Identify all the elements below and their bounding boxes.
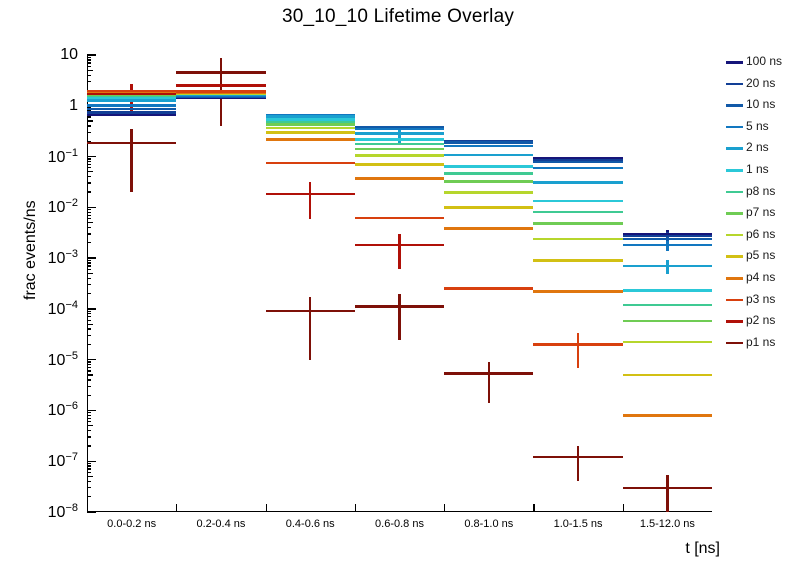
x-bin-divider bbox=[355, 504, 356, 512]
y-tick-minor bbox=[87, 191, 91, 192]
y-tick-minor bbox=[87, 218, 91, 219]
error-bar bbox=[309, 297, 311, 359]
x-tick-label: 1.0-1.5 ns bbox=[554, 518, 603, 530]
series-bar bbox=[266, 123, 355, 125]
series-bar bbox=[355, 128, 444, 130]
legend-color-swatch bbox=[726, 83, 743, 86]
y-tick-minor bbox=[87, 465, 91, 466]
y-tick-minor bbox=[87, 227, 91, 228]
legend-item[interactable]: p7 ns bbox=[724, 203, 796, 224]
y-tick-minor bbox=[87, 120, 93, 121]
series-bar bbox=[623, 244, 712, 246]
y-tick-minor bbox=[87, 209, 91, 210]
y-tick-minor bbox=[87, 70, 93, 71]
y-tick-minor bbox=[87, 116, 91, 117]
legend-label: p5 ns bbox=[746, 248, 775, 262]
legend-color-swatch bbox=[726, 277, 743, 280]
legend-label: p7 ns bbox=[746, 205, 775, 219]
series-bar bbox=[87, 104, 176, 106]
y-axis-title: frac events/ns bbox=[22, 200, 40, 300]
y-tick-label: 10−7 bbox=[48, 451, 78, 471]
error-bar bbox=[309, 182, 311, 218]
y-tick-minor bbox=[87, 320, 91, 321]
series-bar bbox=[623, 304, 712, 306]
y-tick-minor bbox=[87, 215, 91, 216]
y-tick-minor bbox=[87, 176, 91, 177]
legend-color-swatch bbox=[726, 342, 743, 345]
legend-color-swatch bbox=[726, 234, 743, 237]
series-bar bbox=[355, 132, 444, 134]
series-bar bbox=[87, 111, 176, 113]
y-tick-label: 10 bbox=[60, 46, 78, 64]
legend-label: p2 ns bbox=[746, 313, 775, 327]
y-tick-minor bbox=[87, 262, 91, 263]
series-bar bbox=[355, 143, 444, 145]
legend-item[interactable]: p4 ns bbox=[724, 268, 796, 289]
error-bar bbox=[577, 333, 579, 367]
series-bar bbox=[266, 131, 355, 133]
y-tick-minor bbox=[87, 367, 91, 368]
y-tick-major bbox=[87, 359, 96, 360]
y-tick-minor bbox=[87, 425, 93, 426]
series-bar bbox=[623, 341, 712, 343]
series-bar bbox=[87, 108, 176, 110]
x-tick-label: 0.6-0.8 ns bbox=[375, 518, 424, 530]
x-axis-title: t [ns] bbox=[0, 540, 720, 558]
y-tick-label: 10−5 bbox=[48, 349, 78, 369]
y-tick-minor bbox=[87, 278, 91, 279]
legend-item[interactable]: 10 ns bbox=[724, 95, 796, 116]
legend-label: p1 ns bbox=[746, 335, 775, 349]
y-tick-minor bbox=[87, 481, 91, 482]
y-tick-label: 10−6 bbox=[48, 400, 78, 420]
series-bar bbox=[623, 289, 712, 291]
y-tick-minor bbox=[87, 125, 91, 126]
legend-item[interactable]: 2 ns bbox=[724, 138, 796, 159]
y-tick-major bbox=[87, 156, 96, 157]
y-tick-minor bbox=[87, 132, 91, 133]
legend-color-swatch bbox=[726, 299, 743, 302]
x-tick-label: 0.2-0.4 ns bbox=[196, 518, 245, 530]
series-bar bbox=[176, 84, 265, 86]
legend-color-swatch bbox=[726, 191, 743, 194]
y-tick-label: 10−1 bbox=[48, 146, 78, 166]
legend-item[interactable]: 20 ns bbox=[724, 74, 796, 95]
series-bar bbox=[623, 238, 712, 240]
y-tick-minor bbox=[87, 379, 91, 380]
series-bar bbox=[533, 238, 622, 240]
y-tick-minor bbox=[87, 164, 91, 165]
plot-area bbox=[87, 55, 712, 512]
legend: 100 ns20 ns10 ns5 ns2 ns1 nsp8 nsp7 nsp6… bbox=[724, 52, 796, 358]
series-bar bbox=[355, 244, 444, 246]
series-bar bbox=[533, 211, 622, 213]
y-tick-minor bbox=[87, 233, 91, 234]
y-tick-major bbox=[87, 207, 96, 208]
series-bar bbox=[533, 259, 622, 261]
legend-item[interactable]: p1 ns bbox=[724, 333, 796, 354]
legend-color-swatch bbox=[726, 147, 743, 150]
y-tick-minor bbox=[87, 415, 91, 416]
series-bar bbox=[444, 372, 533, 374]
series-bar bbox=[444, 145, 533, 147]
x-bin-divider bbox=[266, 504, 267, 512]
series-bar bbox=[444, 287, 533, 289]
y-tick-minor bbox=[87, 421, 91, 422]
y-tick-label: 1 bbox=[69, 97, 78, 115]
y-tick-minor bbox=[87, 269, 91, 270]
series-bar bbox=[266, 138, 355, 140]
error-bar bbox=[398, 234, 400, 269]
x-tick-label: 0.4-0.6 ns bbox=[286, 518, 335, 530]
series-bar bbox=[623, 487, 712, 489]
y-tick-label: 10−4 bbox=[48, 299, 78, 319]
series-bar bbox=[355, 154, 444, 156]
y-tick-major bbox=[87, 461, 96, 462]
y-tick-major bbox=[87, 410, 96, 411]
legend-color-swatch bbox=[726, 126, 743, 129]
series-bar bbox=[87, 93, 176, 95]
legend-color-swatch bbox=[726, 320, 743, 323]
y-tick-minor bbox=[87, 335, 91, 336]
y-tick-minor bbox=[87, 496, 91, 497]
series-bar bbox=[444, 180, 533, 182]
y-tick-major bbox=[87, 511, 96, 512]
y-tick-label: 10−8 bbox=[48, 502, 78, 522]
y-tick-label: 10−3 bbox=[48, 248, 78, 268]
series-bar bbox=[533, 181, 622, 183]
y-tick-minor bbox=[87, 260, 91, 261]
series-bar bbox=[355, 138, 444, 140]
series-bar bbox=[444, 206, 533, 208]
y-tick-minor bbox=[87, 182, 91, 183]
legend-label: 10 ns bbox=[746, 97, 775, 111]
y-tick-minor bbox=[87, 273, 93, 274]
y-tick-minor bbox=[87, 167, 91, 168]
y-tick-minor bbox=[87, 75, 91, 76]
y-tick-minor bbox=[87, 57, 91, 58]
series-bar bbox=[176, 90, 265, 92]
series-bar bbox=[176, 71, 265, 73]
series-bar bbox=[87, 114, 176, 116]
y-tick-label: 10−2 bbox=[48, 197, 78, 217]
y-tick-minor bbox=[87, 161, 91, 162]
error-bar bbox=[488, 362, 490, 404]
y-tick-minor bbox=[87, 316, 91, 317]
legend-item[interactable]: 1 ns bbox=[724, 160, 796, 181]
error-bar bbox=[130, 129, 132, 192]
series-bar bbox=[623, 265, 712, 267]
legend-label: p8 ns bbox=[746, 184, 775, 198]
y-tick-minor bbox=[87, 59, 91, 60]
legend-item[interactable]: p8 ns bbox=[724, 182, 796, 203]
series-bar bbox=[533, 222, 622, 224]
legend-label: 2 ns bbox=[746, 140, 769, 154]
x-bin-divider bbox=[444, 504, 445, 512]
y-tick-minor bbox=[87, 386, 91, 387]
chart-title: 30_10_10 Lifetime Overlay bbox=[0, 6, 796, 28]
y-tick-minor bbox=[87, 344, 91, 345]
series-bar bbox=[266, 162, 355, 164]
series-bar bbox=[266, 310, 355, 312]
legend-item[interactable]: p5 ns bbox=[724, 246, 796, 267]
y-tick-minor bbox=[87, 395, 91, 396]
y-tick-minor bbox=[87, 212, 91, 213]
y-tick-major bbox=[87, 308, 96, 309]
axes-frame bbox=[87, 55, 712, 512]
y-tick-minor bbox=[87, 222, 93, 223]
x-tick-label: 1.5-12.0 ns bbox=[640, 518, 695, 530]
y-tick-minor bbox=[87, 158, 91, 159]
y-tick-minor bbox=[87, 418, 91, 419]
legend-item[interactable]: p3 ns bbox=[724, 290, 796, 311]
series-bar bbox=[444, 154, 533, 156]
y-tick-minor bbox=[87, 463, 91, 464]
x-tick-label: 0.0-0.2 ns bbox=[107, 518, 156, 530]
y-tick-minor bbox=[87, 476, 93, 477]
legend-color-swatch bbox=[726, 255, 743, 258]
series-bar bbox=[444, 165, 533, 167]
legend-label: p6 ns bbox=[746, 227, 775, 241]
series-bar bbox=[533, 456, 622, 458]
y-tick-major bbox=[87, 54, 96, 55]
chart-root: 30_10_10 Lifetime Overlay frac events/ns… bbox=[0, 0, 796, 572]
y-tick-minor bbox=[87, 374, 93, 375]
y-tick-minor bbox=[87, 62, 91, 63]
series-bar bbox=[533, 343, 622, 345]
series-bar bbox=[533, 290, 622, 292]
legend-label: 20 ns bbox=[746, 76, 775, 90]
y-tick-minor bbox=[87, 430, 91, 431]
y-tick-minor bbox=[87, 324, 93, 325]
y-tick-minor bbox=[87, 487, 91, 488]
y-tick-minor bbox=[87, 265, 91, 266]
series-bar bbox=[266, 193, 355, 195]
error-bar bbox=[577, 446, 579, 481]
legend-label: 5 ns bbox=[746, 119, 769, 133]
series-bar bbox=[355, 177, 444, 179]
series-bar bbox=[266, 115, 355, 117]
y-tick-minor bbox=[87, 171, 93, 172]
y-tick-minor bbox=[87, 66, 91, 67]
y-tick-minor bbox=[87, 313, 91, 314]
legend-label: p4 ns bbox=[746, 270, 775, 284]
series-bar bbox=[355, 217, 444, 219]
x-bin-divider bbox=[533, 504, 534, 512]
series-bar bbox=[355, 148, 444, 150]
series-bar bbox=[623, 374, 712, 376]
series-bar bbox=[533, 167, 622, 169]
y-tick-minor bbox=[87, 361, 91, 362]
error-bar bbox=[398, 294, 400, 341]
x-bin-divider bbox=[176, 504, 177, 512]
y-tick-minor bbox=[87, 370, 91, 371]
error-bar bbox=[666, 475, 668, 512]
legend-color-swatch bbox=[726, 169, 743, 172]
series-bar bbox=[533, 200, 622, 202]
y-tick-minor bbox=[87, 445, 91, 446]
series-bar bbox=[87, 142, 176, 144]
series-bar bbox=[87, 90, 176, 92]
series-bar bbox=[623, 320, 712, 322]
y-tick-minor bbox=[87, 472, 91, 473]
y-tick-minor bbox=[87, 284, 91, 285]
legend-label: p3 ns bbox=[746, 292, 775, 306]
legend-item[interactable]: p6 ns bbox=[724, 225, 796, 246]
y-tick-minor bbox=[87, 293, 91, 294]
legend-label: 100 ns bbox=[746, 54, 782, 68]
y-tick-minor bbox=[87, 364, 91, 365]
series-bar bbox=[444, 172, 533, 174]
y-tick-minor bbox=[87, 436, 91, 437]
y-tick-minor bbox=[87, 412, 91, 413]
y-tick-minor bbox=[87, 468, 91, 469]
series-bar bbox=[444, 141, 533, 143]
series-bar bbox=[444, 227, 533, 229]
y-tick-major bbox=[87, 257, 96, 258]
y-tick-minor bbox=[87, 328, 91, 329]
series-bar bbox=[355, 163, 444, 165]
legend-label: 1 ns bbox=[746, 162, 769, 176]
series-bar bbox=[355, 305, 444, 307]
legend-item[interactable]: 5 ns bbox=[724, 117, 796, 138]
series-bar bbox=[533, 161, 622, 163]
series-bar bbox=[87, 99, 176, 101]
series-bar bbox=[623, 414, 712, 416]
y-tick-minor bbox=[87, 242, 91, 243]
legend-color-swatch bbox=[726, 212, 743, 215]
legend-item[interactable]: p2 ns bbox=[724, 311, 796, 332]
x-tick-label: 0.8-1.0 ns bbox=[464, 518, 513, 530]
y-tick-minor bbox=[87, 311, 91, 312]
series-bar bbox=[444, 191, 533, 193]
x-bin-divider bbox=[623, 504, 624, 512]
y-tick-minor bbox=[87, 81, 91, 82]
legend-color-swatch bbox=[726, 104, 743, 107]
legend-color-swatch bbox=[726, 61, 743, 64]
legend-item[interactable]: 100 ns bbox=[724, 52, 796, 73]
series-bar bbox=[266, 127, 355, 129]
